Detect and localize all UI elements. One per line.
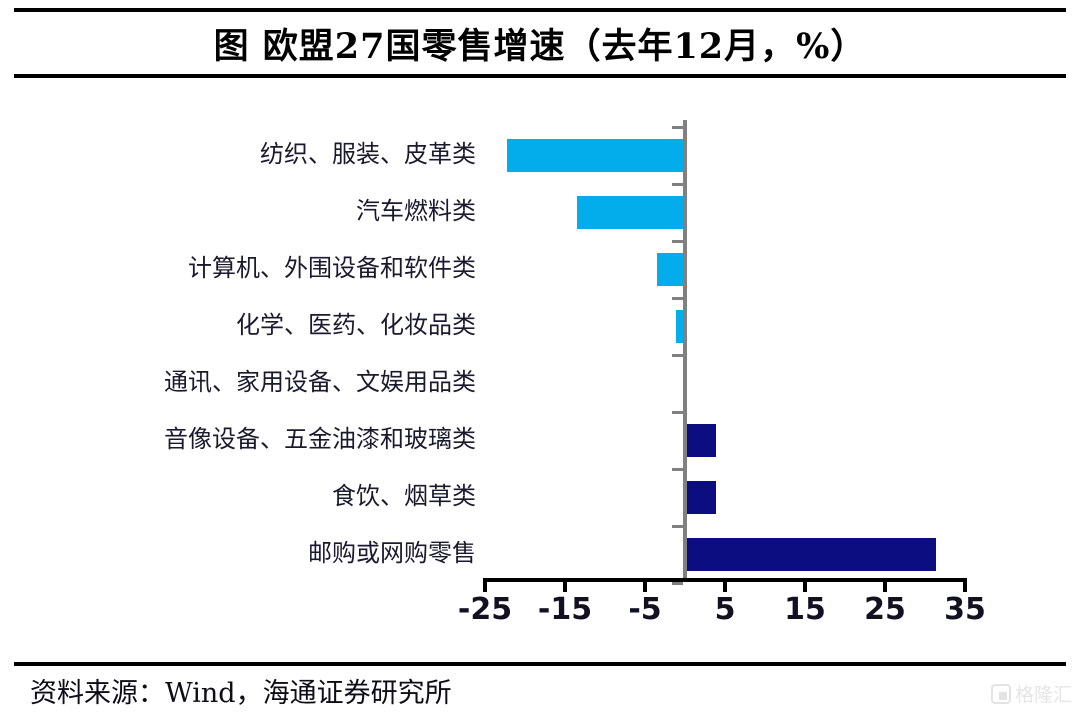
- x-tick: [803, 578, 807, 592]
- watermark-label: 格隆汇: [1015, 680, 1072, 707]
- bar-row: 纺织、服装、皮革类: [0, 126, 1080, 183]
- watermark: 格隆汇: [991, 680, 1072, 707]
- category-label: 食饮、烟草类: [332, 468, 476, 525]
- category-label: 通讯、家用设备、文娱用品类: [164, 354, 476, 411]
- bar-row: 计算机、外围设备和软件类: [0, 240, 1080, 297]
- bar-row: 化学、医药、化妆品类: [0, 297, 1080, 354]
- x-tick: [963, 578, 967, 592]
- title-rule-bottom: [14, 74, 1066, 78]
- category-label: 计算机、外围设备和软件类: [188, 240, 476, 297]
- x-tick: [723, 578, 727, 592]
- category-tick: [672, 411, 683, 414]
- x-tick-label: 5: [690, 592, 760, 627]
- category-tick: [672, 582, 683, 585]
- category-tick: [672, 525, 683, 528]
- x-tick-label: -5: [610, 592, 680, 627]
- bar: [685, 424, 716, 457]
- category-tick: [672, 183, 683, 186]
- chart-figure: 图 欧盟27国零售增速（去年12月，%） 纺织、服装、皮革类汽车燃料类计算机、外…: [0, 0, 1080, 719]
- bar: [685, 538, 936, 571]
- plot-area: 纺织、服装、皮革类汽车燃料类计算机、外围设备和软件类化学、医药、化妆品类通讯、家…: [0, 120, 1080, 590]
- category-label: 汽车燃料类: [356, 183, 476, 240]
- x-tick-label: 25: [850, 592, 920, 627]
- gelonghui-logo-icon: [991, 684, 1011, 704]
- bar-row: 音像设备、五金油漆和玻璃类: [0, 411, 1080, 468]
- bar-row: 汽车燃料类: [0, 183, 1080, 240]
- bar-row: 邮购或网购零售: [0, 525, 1080, 582]
- bar-row: 通讯、家用设备、文娱用品类: [0, 354, 1080, 411]
- bar-row: 食饮、烟草类: [0, 468, 1080, 525]
- source-note: 资料来源：Wind，海通证券研究所: [30, 672, 452, 716]
- category-axis-line: [683, 120, 687, 581]
- x-tick-label: 15: [770, 592, 840, 627]
- title-rule-top: [14, 8, 1066, 12]
- bar: [657, 253, 685, 286]
- x-tick: [883, 578, 887, 592]
- x-tick-label: -15: [530, 592, 600, 627]
- footer-rule: [14, 662, 1066, 666]
- x-tick-label: -25: [450, 592, 520, 627]
- category-tick: [672, 468, 683, 471]
- category-tick: [672, 240, 683, 243]
- bar: [507, 139, 685, 172]
- x-tick-label: 35: [930, 592, 1000, 627]
- category-label: 纺织、服装、皮革类: [260, 126, 476, 183]
- category-label: 音像设备、五金油漆和玻璃类: [164, 411, 476, 468]
- x-tick: [483, 578, 487, 592]
- bar: [685, 481, 716, 514]
- category-label: 邮购或网购零售: [308, 525, 476, 582]
- category-tick: [672, 126, 683, 129]
- category-label: 化学、医药、化妆品类: [236, 297, 476, 354]
- x-tick: [643, 578, 647, 592]
- category-tick: [672, 297, 683, 300]
- bar: [577, 196, 685, 229]
- bar-rows: 纺织、服装、皮革类汽车燃料类计算机、外围设备和软件类化学、医药、化妆品类通讯、家…: [0, 126, 1080, 582]
- category-tick: [672, 354, 683, 357]
- x-tick: [563, 578, 567, 592]
- page-title: 图 欧盟27国零售增速（去年12月，%）: [14, 14, 1066, 72]
